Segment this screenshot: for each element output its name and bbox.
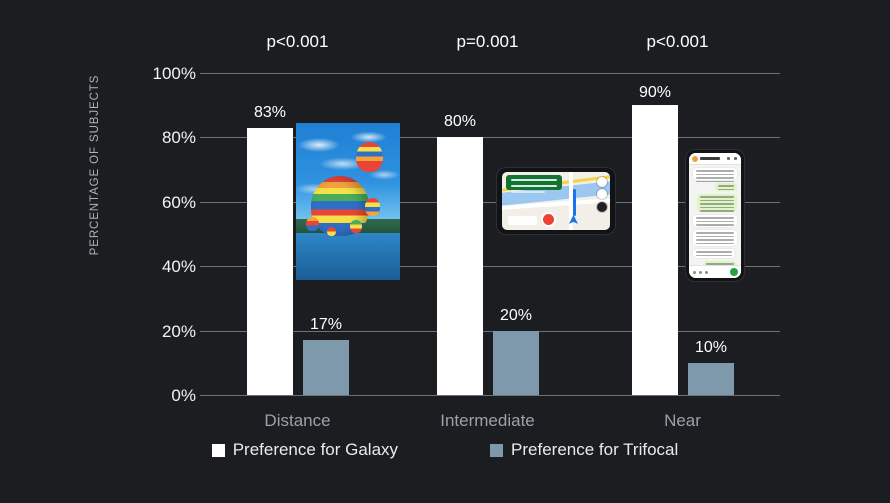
balloon-mid-right bbox=[365, 198, 381, 215]
gridline-100 bbox=[200, 73, 780, 74]
bar-trifocal-near bbox=[688, 363, 734, 395]
legend-item-trifocal: Preference for Trifocal bbox=[490, 440, 678, 460]
gridline-0 bbox=[200, 395, 780, 396]
balloon-small-center bbox=[327, 227, 335, 236]
send-icon bbox=[730, 268, 738, 276]
value-label-galaxy-near: 90% bbox=[612, 84, 698, 102]
chat-input-bar bbox=[689, 265, 741, 278]
y-axis-title: PERCENTAGE OF SUBJECTS bbox=[89, 30, 101, 300]
balloon-lower-right bbox=[350, 220, 361, 233]
pvalue-intermediate: p=0.001 bbox=[405, 32, 570, 52]
value-label-galaxy-distance: 83% bbox=[227, 104, 313, 122]
phone-call-icon bbox=[734, 157, 737, 160]
balloon-lower-left bbox=[306, 217, 318, 231]
chat-contact-name bbox=[700, 157, 720, 160]
legend-item-galaxy: Preference for Galaxy bbox=[212, 440, 398, 460]
x-category-label-distance: Distance bbox=[215, 411, 380, 431]
y-tick-label-100: 100% bbox=[130, 64, 196, 84]
map-direction-banner bbox=[506, 175, 562, 190]
y-axis-title-wrap: PERCENTAGE OF SUBJECTS bbox=[96, 150, 120, 420]
emoji-icon bbox=[693, 271, 696, 274]
bar-galaxy-distance bbox=[247, 128, 293, 395]
chat-screen bbox=[689, 153, 741, 278]
chat-bubble-outgoing bbox=[715, 183, 737, 191]
bar-trifocal-intermediate bbox=[493, 331, 539, 395]
video-call-icon bbox=[727, 157, 730, 160]
legend-label-trifocal: Preference for Trifocal bbox=[511, 440, 678, 460]
y-tick-label-40: 40% bbox=[130, 257, 196, 277]
legend-swatch-galaxy bbox=[212, 444, 225, 457]
phone-navigation-map bbox=[497, 168, 615, 234]
y-tick-label-20: 20% bbox=[130, 322, 196, 342]
map-screen bbox=[502, 172, 610, 230]
value-label-galaxy-intermediate: 80% bbox=[417, 113, 503, 131]
hot-air-balloons-photo bbox=[296, 123, 400, 280]
pvalue-distance: p<0.001 bbox=[215, 32, 380, 52]
balloon-upper-right bbox=[356, 142, 383, 172]
legend: Preference for Galaxy Preference for Tri… bbox=[0, 440, 890, 460]
map-eta-label bbox=[508, 216, 536, 225]
bar-trifocal-distance bbox=[303, 340, 349, 395]
y-tick-label-0: 0% bbox=[130, 386, 196, 406]
x-category-label-near: Near bbox=[600, 411, 765, 431]
value-label-trifocal-distance: 17% bbox=[283, 316, 369, 334]
pvalue-near: p<0.001 bbox=[595, 32, 760, 52]
bar-galaxy-intermediate bbox=[437, 137, 483, 395]
chat-bubble-incoming bbox=[693, 215, 737, 227]
balloon-photo-water bbox=[296, 233, 400, 280]
chat-bubble-incoming bbox=[693, 249, 735, 258]
chat-bubble-incoming bbox=[693, 168, 737, 180]
value-label-trifocal-near: 10% bbox=[668, 339, 754, 357]
chat-bubble-outgoing bbox=[697, 194, 737, 212]
legend-label-galaxy: Preference for Galaxy bbox=[233, 440, 398, 460]
chat-bubble-incoming bbox=[693, 230, 737, 246]
value-label-trifocal-intermediate: 20% bbox=[473, 307, 559, 325]
y-tick-label-80: 80% bbox=[130, 128, 196, 148]
legend-swatch-trifocal bbox=[490, 444, 503, 457]
phone-chat-messages bbox=[686, 150, 744, 281]
chat-header bbox=[689, 153, 741, 165]
map-location-pin-icon bbox=[543, 214, 554, 225]
map-control-icon-1 bbox=[597, 177, 607, 187]
camera-icon bbox=[705, 271, 708, 274]
map-route-line bbox=[573, 189, 576, 216]
y-tick-label-60: 60% bbox=[130, 193, 196, 213]
map-control-icon-3 bbox=[597, 202, 607, 212]
bar-chart: PERCENTAGE OF SUBJECTS 100% 80% 60% 40% … bbox=[0, 0, 890, 503]
attach-icon bbox=[699, 271, 702, 274]
x-category-label-intermediate: Intermediate bbox=[405, 411, 570, 431]
chat-avatar bbox=[692, 156, 698, 162]
